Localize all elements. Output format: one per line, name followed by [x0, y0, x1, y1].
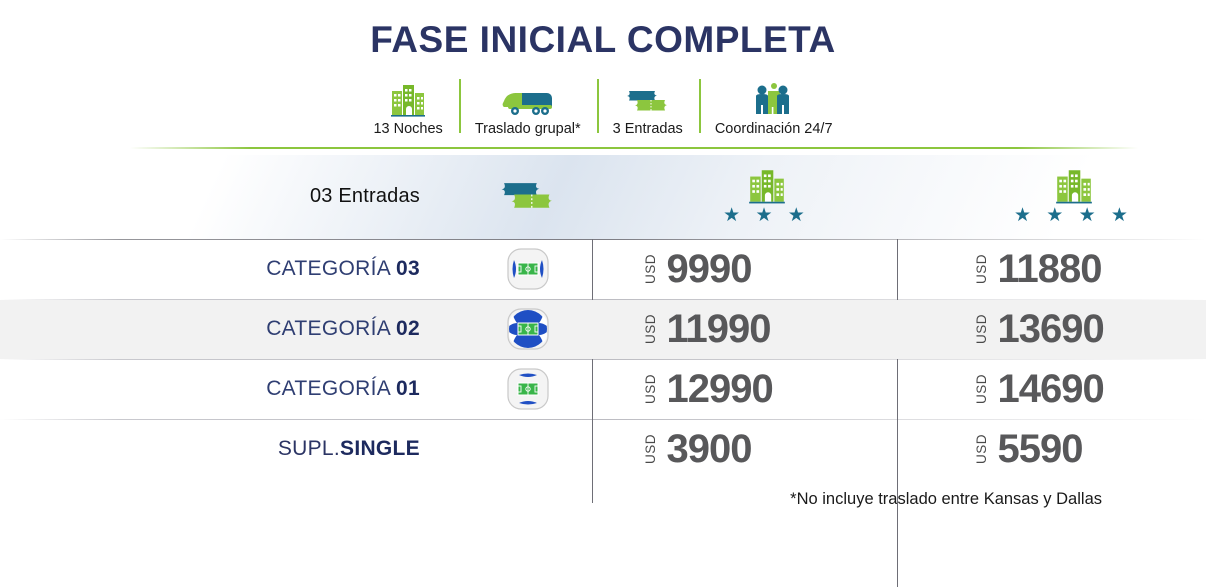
row-label-emphasis: 03: [396, 257, 420, 280]
table-row: CATEGORÍA 02 USD 11990 USD: [0, 300, 1206, 359]
currency-label: USD: [644, 314, 658, 344]
buildings-icon: [746, 168, 788, 204]
price-amount: 3900: [667, 429, 752, 469]
currency-label: USD: [975, 254, 989, 284]
row-label-text: CATEGORÍA: [266, 257, 396, 280]
price-cell-4-star: USD 14690: [949, 360, 1206, 419]
currency-label: USD: [644, 434, 658, 464]
price-amount: 13690: [998, 309, 1104, 349]
table-header-row: 03 Entradas: [0, 155, 1206, 239]
table-header-label: 03 Entradas: [0, 185, 442, 208]
stadium-cat01-icon: [442, 365, 614, 413]
row-label-text: SUPL.: [278, 437, 340, 460]
currency-label: USD: [644, 254, 658, 284]
row-label-emphasis: SINGLE: [340, 437, 420, 460]
price-table: 03 Entradas: [0, 155, 1206, 479]
table-row: SUPL.SINGLE USD 3900 USD 5590: [0, 420, 1206, 479]
buildings-icon: [388, 81, 428, 117]
divider-green: [130, 147, 1138, 149]
price-cell-4-star: USD 13690: [949, 300, 1206, 359]
row-label: CATEGORÍA 01: [0, 377, 442, 401]
star-rating: ★ ★ ★ ★: [1014, 206, 1133, 225]
row-label-emphasis: 01: [396, 377, 420, 400]
footnote: *No incluye traslado entre Kansas y Dall…: [0, 490, 1206, 509]
feature-strip: 13 Noches Traslado grupal*: [0, 75, 1206, 137]
star-rating: ★ ★ ★: [723, 206, 810, 225]
currency-label: USD: [644, 374, 658, 404]
page-title: FASE INICIAL COMPLETA: [0, 0, 1206, 61]
price-amount: 9990: [667, 249, 752, 289]
price-amount: 11880: [998, 249, 1102, 289]
feature-item-noches: 13 Noches: [357, 75, 458, 137]
row-label-emphasis: 02: [396, 317, 420, 340]
column-header-4-star: ★ ★ ★ ★: [919, 155, 1206, 239]
stadium-cat02-icon: [442, 305, 614, 353]
currency-label: USD: [975, 434, 989, 464]
row-label-text: CATEGORÍA: [266, 317, 396, 340]
price-cell-3-star: USD 9990: [614, 240, 949, 299]
price-amount: 14690: [998, 369, 1104, 409]
feature-item-coordinacion: Coordinación 24/7: [699, 75, 849, 137]
column-header-3-star: ★ ★ ★: [614, 155, 919, 239]
buildings-icon: [1053, 168, 1095, 204]
price-cell-3-star: USD 11990: [614, 300, 949, 359]
price-cell-4-star: USD 5590: [949, 420, 1206, 479]
currency-label: USD: [975, 314, 989, 344]
feature-label: 3 Entradas: [613, 121, 683, 137]
people-icon: [752, 81, 796, 117]
row-label: CATEGORÍA 03: [0, 257, 442, 281]
bus-icon: [501, 81, 555, 117]
price-amount: 5590: [998, 429, 1083, 469]
price-cell-4-star: USD 11880: [949, 240, 1206, 299]
feature-label: Traslado grupal*: [475, 121, 581, 137]
price-amount: 12990: [667, 369, 773, 409]
row-label: SUPL.SINGLE: [0, 437, 442, 461]
feature-label: Coordinación 24/7: [715, 121, 833, 137]
feature-label: 13 Noches: [373, 121, 442, 137]
price-cell-3-star: USD 3900: [614, 420, 949, 479]
stadium-cat03-icon: [442, 245, 614, 293]
row-label-text: CATEGORÍA: [266, 377, 396, 400]
row-label: CATEGORÍA 02: [0, 317, 442, 341]
feature-item-entradas: 3 Entradas: [597, 75, 699, 137]
tickets-icon: [442, 178, 614, 216]
price-amount: 11990: [667, 309, 771, 349]
table-row: CATEGORÍA 03 USD 9990 USD 11880: [0, 240, 1206, 299]
price-cell-3-star: USD 12990: [614, 360, 949, 419]
currency-label: USD: [975, 374, 989, 404]
tickets-icon: [625, 81, 671, 117]
feature-item-traslado: Traslado grupal*: [459, 75, 597, 137]
table-row: CATEGORÍA 01 USD 12990 USD 14690: [0, 360, 1206, 419]
